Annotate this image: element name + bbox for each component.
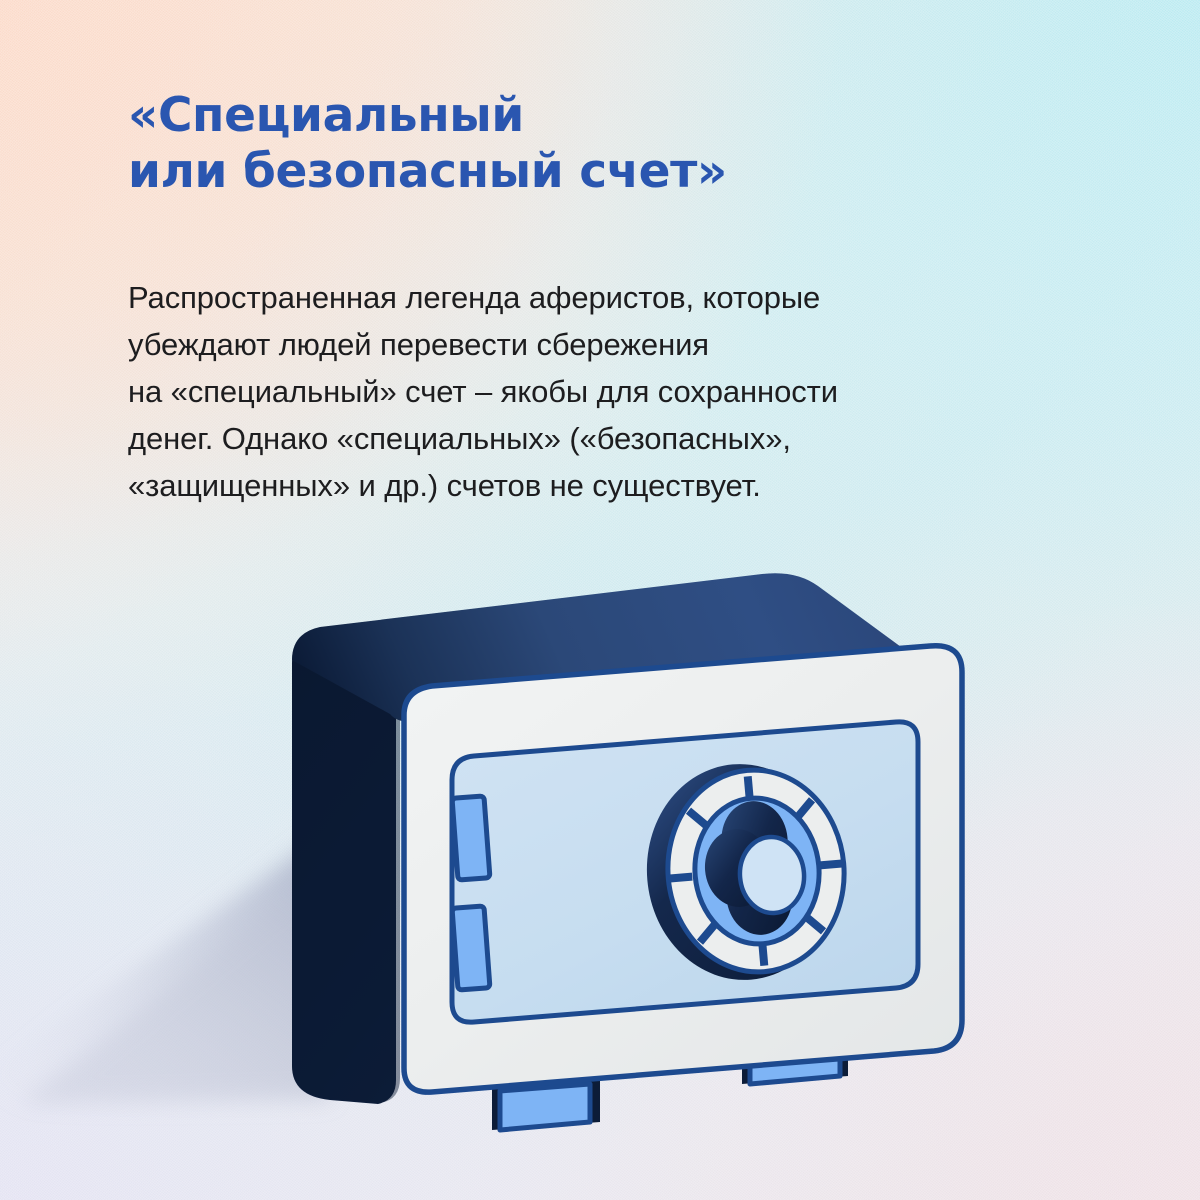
safe-hinge-upper bbox=[452, 796, 490, 880]
text-block: «Специальный или безопасный счет» Распро… bbox=[128, 88, 1028, 509]
page-title: «Специальный или безопасный счет» bbox=[128, 88, 1028, 200]
safe-hinge-lower bbox=[452, 906, 490, 990]
body-paragraph: Распространенная легенда аферистов, кото… bbox=[128, 274, 1028, 510]
safe-drop-shadow bbox=[0, 830, 330, 1110]
safe-illustration bbox=[0, 500, 1200, 1200]
slide-card: «Специальный или безопасный счет» Распро… bbox=[0, 0, 1200, 1200]
